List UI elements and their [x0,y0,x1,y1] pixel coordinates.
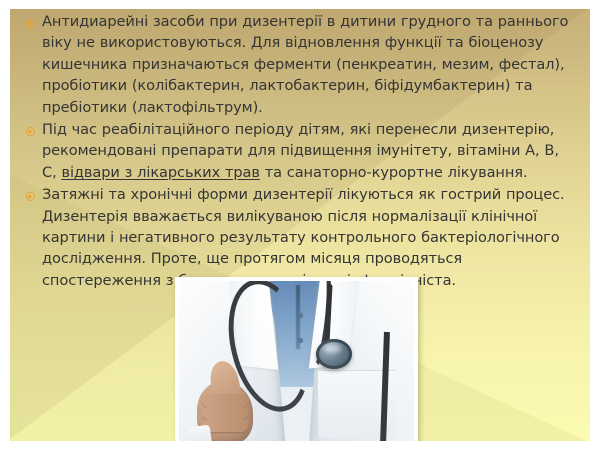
list-item: Антидиарейні засоби при дизентерії в дит… [18,11,578,118]
hand-gripping-lapel [191,361,264,441]
finger [202,407,247,419]
bullet-marker [18,119,42,136]
finger [202,394,247,406]
bullet-segment-underlined: відвари з лікарських трав [61,164,259,181]
bullet-text: Антидиарейні засоби при дизентерії в дит… [42,11,578,118]
bullet-list: Антидиарейні засоби при дизентерії в дит… [18,11,578,292]
bullet-segment: та санаторно-курортне лікування. [260,164,528,181]
ring-dot-bullet-icon [26,192,35,201]
bullet-marker [18,184,42,201]
coat-sleeve-cuff [188,424,213,441]
presentation-slide: Антидиарейні засоби при дизентерії в дит… [0,0,600,451]
bullet-segment: Затяжні та хронічні форми дизентерії лік… [42,186,565,289]
bullet-text: Під час реабілітаційного періоду дітям, … [42,119,578,183]
stethoscope-chestpiece-icon [316,339,352,369]
photo-frame [175,277,418,441]
list-item: Затяжні та хронічні форми дизентерії лік… [18,184,578,291]
bullet-segment: Антидиарейні засоби при дизентерії в дит… [42,13,568,116]
slide-canvas: Антидиарейні засоби при дизентерії в дит… [10,9,590,441]
bullet-text: Затяжні та хронічні форми дизентерії лік… [42,184,578,291]
ring-dot-bullet-icon [26,127,35,136]
ring-dot-bullet-icon [26,19,35,28]
doctor-white-coat-stethoscope-photo [179,281,414,441]
list-item: Під час реабілітаційного періоду дітям, … [18,119,578,183]
bullet-marker [18,11,42,28]
